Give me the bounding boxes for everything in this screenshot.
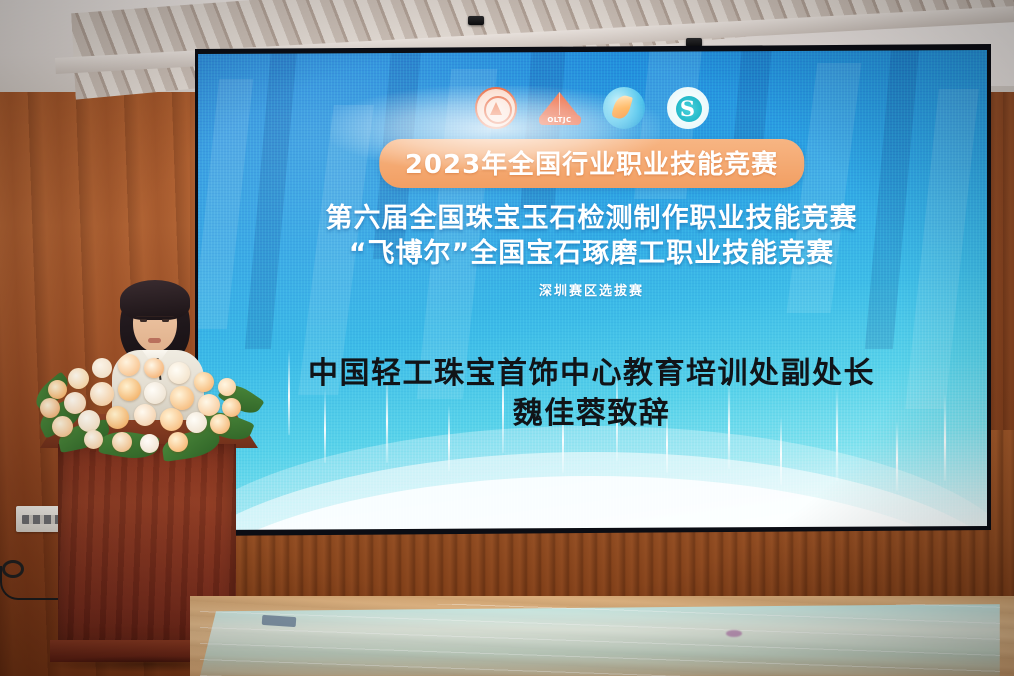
- tent-logo-icon: OLTJC: [539, 87, 581, 129]
- flower: [118, 354, 140, 376]
- flower: [210, 414, 230, 434]
- ceiling-spotlight-icon: [686, 38, 702, 47]
- circular-seal-logo-icon: [475, 87, 517, 129]
- s-monogram-logo-icon: [667, 87, 709, 129]
- mouth: [148, 338, 161, 343]
- tent-logo-caption: OLTJC: [539, 115, 581, 125]
- flower: [186, 412, 207, 433]
- logo-row: OLTJC: [196, 87, 987, 129]
- led-screen: OLTJC 2023年全国行业职业技能竞赛 第六届全国珠宝玉石检测制作职业技能竞…: [196, 49, 987, 530]
- flower: [194, 372, 214, 392]
- flower: [118, 378, 141, 401]
- speaker-name-line: 魏佳蓉致辞: [196, 394, 987, 434]
- flower: [168, 432, 188, 452]
- flower: [52, 416, 73, 437]
- flower: [78, 410, 100, 432]
- flower: [144, 382, 166, 404]
- title-block: 第六届全国珠宝玉石检测制作职业技能竞赛 “飞博尔”全国宝石琢磨工职业技能竞赛 深…: [196, 201, 987, 299]
- flower: [160, 408, 183, 431]
- flower: [218, 378, 236, 396]
- flame-logo-icon: [603, 87, 645, 129]
- flower: [112, 432, 132, 452]
- title-line-1: 第六届全国珠宝玉石检测制作职业技能竞赛: [196, 201, 987, 236]
- speaker-credit-block: 中国轻工珠宝首饰中心教育培训处副处长 魏佳蓉致辞: [196, 354, 987, 433]
- flower: [48, 380, 67, 399]
- glasses-icon: [135, 316, 175, 325]
- flower: [222, 398, 241, 417]
- year-banner-text: 2023年全国行业职业技能竞赛: [405, 144, 778, 181]
- floor-plank-lines: [200, 604, 1000, 676]
- flower: [68, 368, 89, 389]
- flower-arrangement: [34, 352, 266, 462]
- flower: [140, 434, 159, 453]
- tent-shape: [540, 92, 580, 117]
- flower: [106, 406, 129, 429]
- screenshot-stage: OLTJC 2023年全国行业职业技能竞赛 第六届全国珠宝玉石检测制作职业技能竞…: [0, 0, 1014, 676]
- flower: [92, 358, 112, 378]
- title-line-2: “飞博尔”全国宝石琢磨工职业技能竞赛: [196, 236, 987, 271]
- flower: [84, 430, 103, 449]
- year-banner: 2023年全国行业职业技能竞赛: [379, 139, 804, 188]
- hair-front: [120, 280, 190, 320]
- flower: [134, 404, 156, 426]
- flower: [40, 398, 60, 418]
- ceiling-spotlight-icon: [468, 16, 484, 25]
- subtitle: 深圳赛区选拔赛: [196, 280, 987, 299]
- flower: [90, 382, 114, 406]
- flower: [168, 362, 190, 384]
- flower: [170, 386, 194, 410]
- floor-marker: [726, 630, 742, 637]
- speaker-title-line: 中国轻工珠宝首饰中心教育培训处副处长: [196, 354, 987, 394]
- flower: [144, 358, 164, 378]
